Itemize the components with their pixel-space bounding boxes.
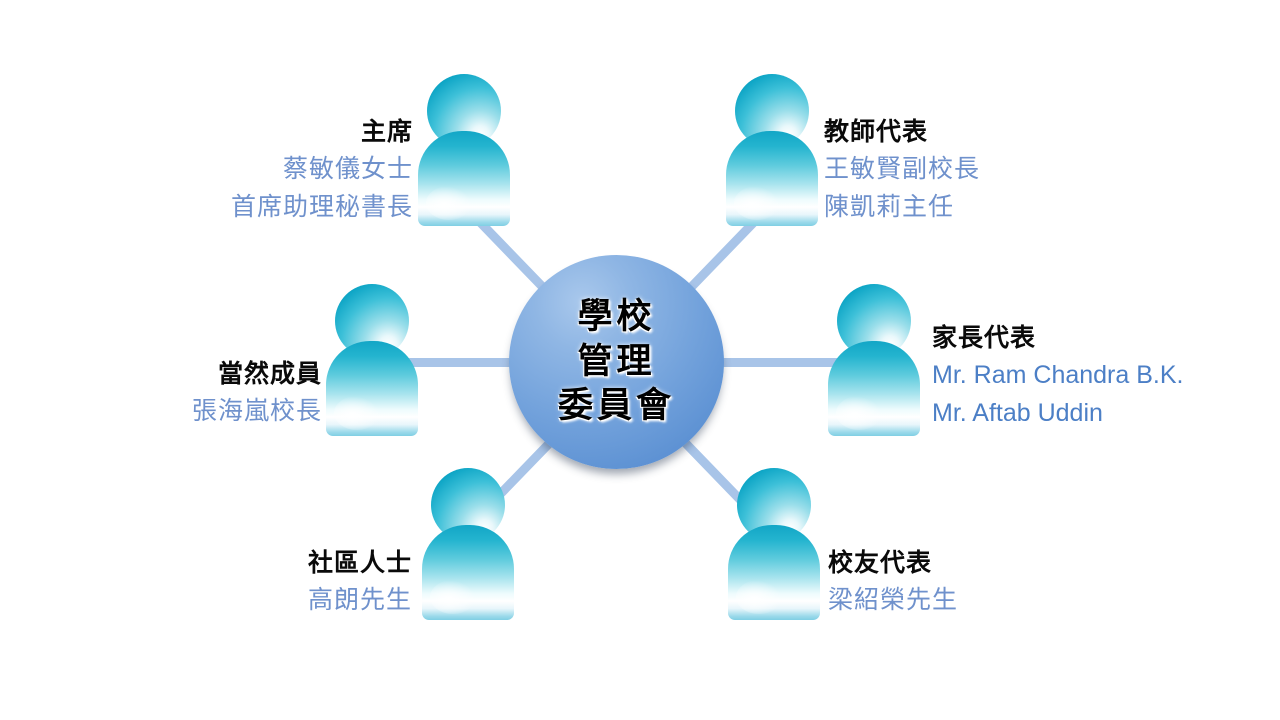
spoke-parent-representative [712,358,840,367]
person-icon-chairperson [418,74,510,226]
person-icon-teacher-representative [726,74,818,226]
name-community-member-1: 高朗先生 [172,581,412,619]
name-teacher-representative-1: 王敏賢副校長 [824,150,1124,188]
person-body-icon [828,341,920,436]
name-alumni-representative-1: 梁紹榮先生 [828,581,1078,619]
center-label-line-1: 學校 [577,295,655,340]
label-community-member: 社區人士 高朗先生 [172,545,412,619]
organisation-chart-canvas: 學校 管理 委員會 主席 蔡敏儀女士 首席助理秘書長 教師代表 王敏賢副校長 陳… [0,0,1280,720]
label-alumni-representative: 校友代表 梁紹榮先生 [828,545,1078,619]
role-alumni-representative: 校友代表 [828,545,1078,581]
name-parent-representative-2: Mr. Aftab Uddin [932,394,1262,432]
center-label-line-2: 管理 [577,340,655,385]
person-icon-ex-officio-member [326,284,418,436]
role-ex-officio-member: 當然成員 [90,356,322,392]
name-parent-representative-1: Mr. Ram Chandra B.K. [932,356,1262,394]
name-chairperson-2: 首席助理秘書長 [150,188,413,226]
person-body-icon [726,131,818,226]
center-label-line-3: 委員會 [558,384,675,429]
role-parent-representative: 家長代表 [932,320,1262,356]
name-chairperson-1: 蔡敏儀女士 [150,150,413,188]
person-body-icon [326,341,418,436]
person-body-icon [728,525,820,620]
person-icon-alumni-representative [728,468,820,620]
role-community-member: 社區人士 [172,545,412,581]
label-parent-representative: 家長代表 Mr. Ram Chandra B.K. Mr. Aftab Uddi… [932,320,1262,432]
person-icon-community-member [422,468,514,620]
role-teacher-representative: 教師代表 [824,114,1124,150]
person-body-icon [422,525,514,620]
person-body-icon [418,131,510,226]
role-chairperson: 主席 [150,114,413,150]
name-teacher-representative-2: 陳凱莉主任 [824,188,1124,226]
label-chairperson: 主席 蔡敏儀女士 首席助理秘書長 [150,114,413,226]
center-node-school-management-committee: 學校 管理 委員會 [509,255,724,469]
person-icon-parent-representative [828,284,920,436]
name-ex-officio-member-1: 張海嵐校長 [90,392,322,430]
label-teacher-representative: 教師代表 王敏賢副校長 陳凱莉主任 [824,114,1124,226]
label-ex-officio-member: 當然成員 張海嵐校長 [90,356,322,430]
